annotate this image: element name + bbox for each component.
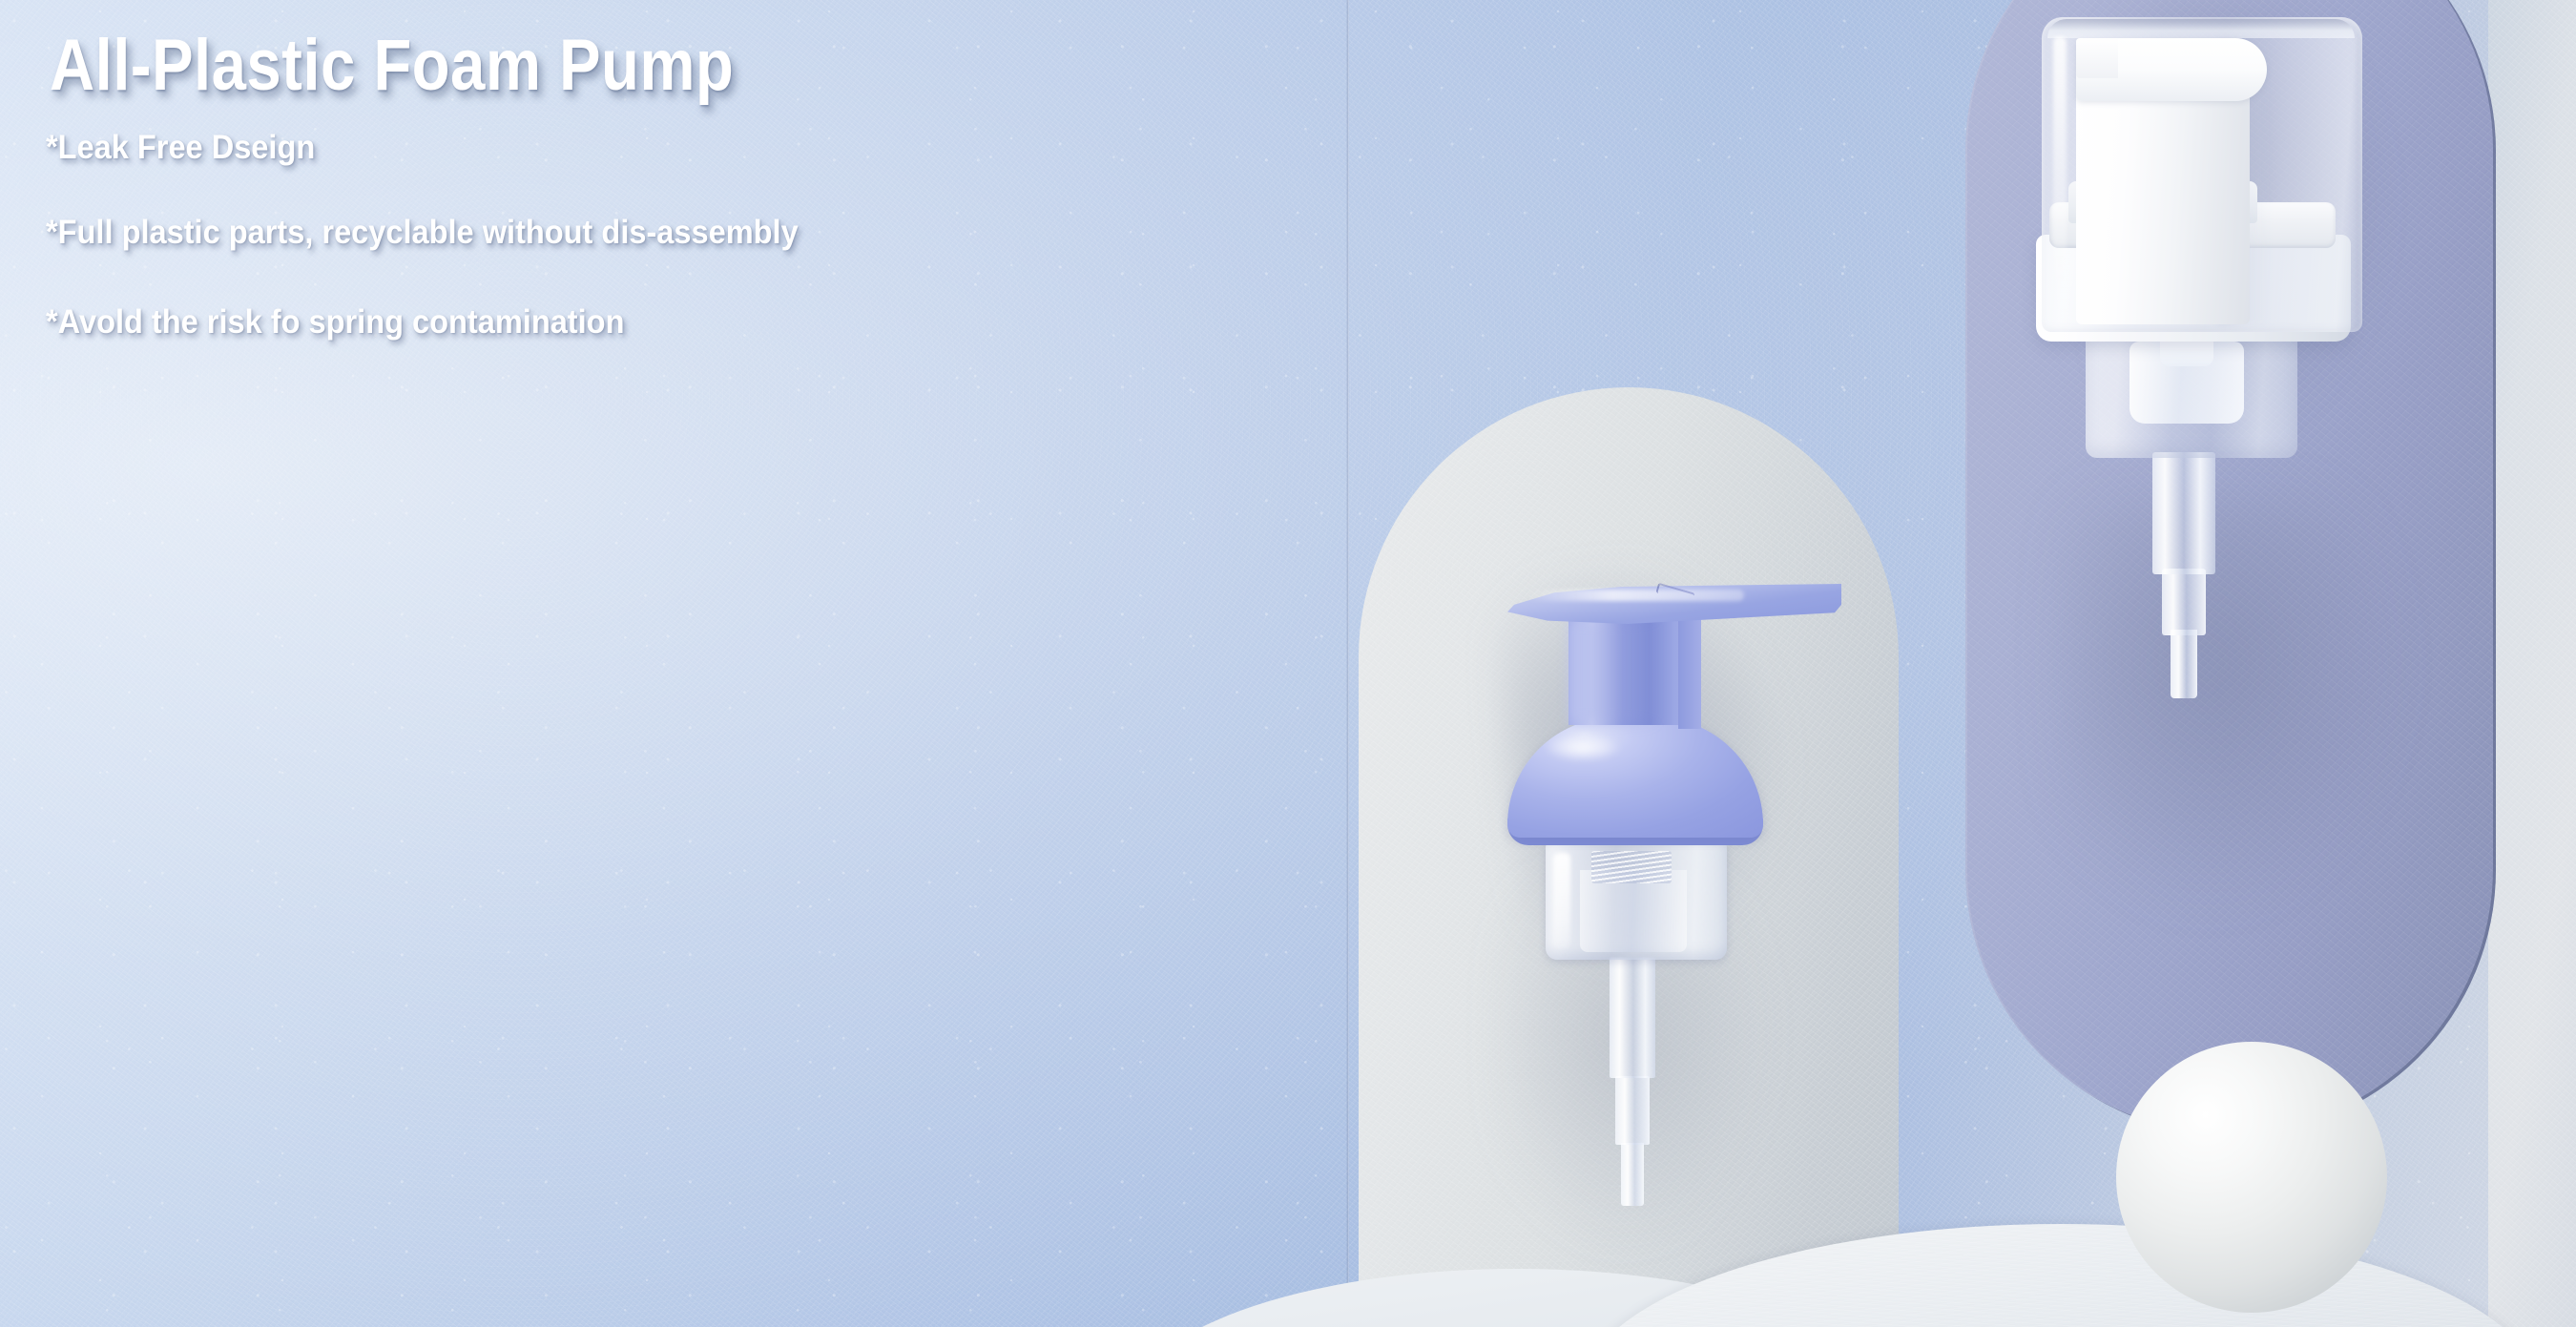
- right-wall-strip: [2488, 0, 2576, 1327]
- blue-pump-dip-tube-tip: [1621, 1143, 1644, 1206]
- blue-pump-chamber-highlight: [1553, 853, 1570, 948]
- blue-pump-dip-tube: [1610, 958, 1655, 1078]
- page-title: All-Plastic Foam Pump: [50, 30, 734, 102]
- blue-pump-dome-collar: [1507, 717, 1763, 838]
- blue-pump-lever-highlight: [1525, 590, 1744, 601]
- white-pump-overcap-highlight: [2053, 36, 2067, 284]
- white-foam-pump: [2030, 17, 2412, 914]
- right-wall-texture: [2488, 0, 2576, 1327]
- panel-seam-line: [1346, 0, 1349, 1327]
- white-pump-dip-tube: [2152, 452, 2215, 574]
- blue-pump-neck-side: [1678, 618, 1701, 729]
- white-pump-overcap-rim: [2047, 19, 2355, 38]
- blue-pump-dip-tube-mid: [1615, 1076, 1650, 1145]
- white-pump-dip-tube-mid: [2162, 569, 2206, 635]
- feature-item-leak-free: *Leak Free Dseign: [46, 131, 315, 164]
- decorative-sphere: [2116, 1042, 2387, 1313]
- white-pump-spout-lip: [2076, 38, 2118, 78]
- product-banner: All-Plastic Foam Pump *Leak Free Dseign …: [0, 0, 2576, 1327]
- blue-pump-dome-highlight: [1542, 735, 1633, 767]
- blue-pump-chamber-threads: [1591, 851, 1672, 883]
- blue-pump-neck-blur: [1570, 620, 1658, 723]
- feature-item-recyclable: *Full plastic parts, recyclable without …: [46, 216, 799, 249]
- feature-item-no-spring-contamination: *Avold the risk fo spring contamination: [46, 305, 624, 339]
- white-pump-dip-tube-tip: [2171, 630, 2197, 698]
- blue-foam-pump: [1488, 584, 1889, 1233]
